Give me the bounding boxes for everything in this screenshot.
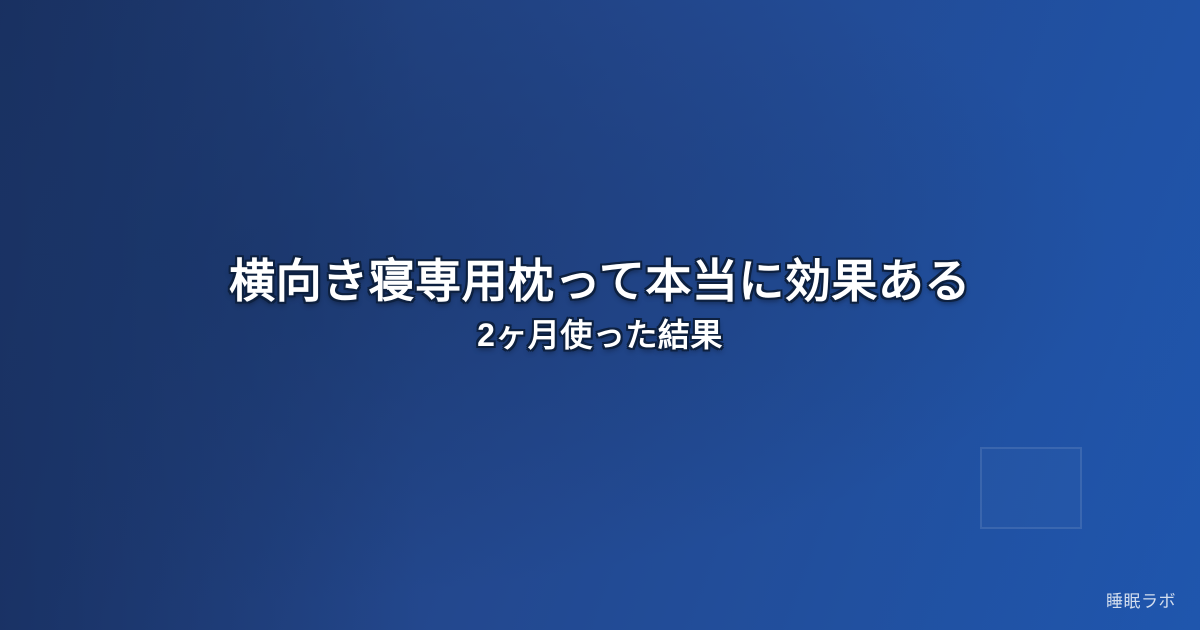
site-name-label: 睡眠ラボ: [1106, 587, 1176, 612]
title-block: 横向き寝専用枕って本当に効果ある 2ヶ月使った結果: [0, 255, 1200, 355]
page-title: 横向き寝専用枕って本当に効果ある: [60, 255, 1140, 308]
og-image-card: 横向き寝専用枕って本当に効果ある 2ヶ月使った結果 睡眠ラボ: [0, 0, 1200, 630]
decorative-square-icon: [980, 447, 1082, 529]
page-subtitle: 2ヶ月使った結果: [60, 316, 1140, 354]
